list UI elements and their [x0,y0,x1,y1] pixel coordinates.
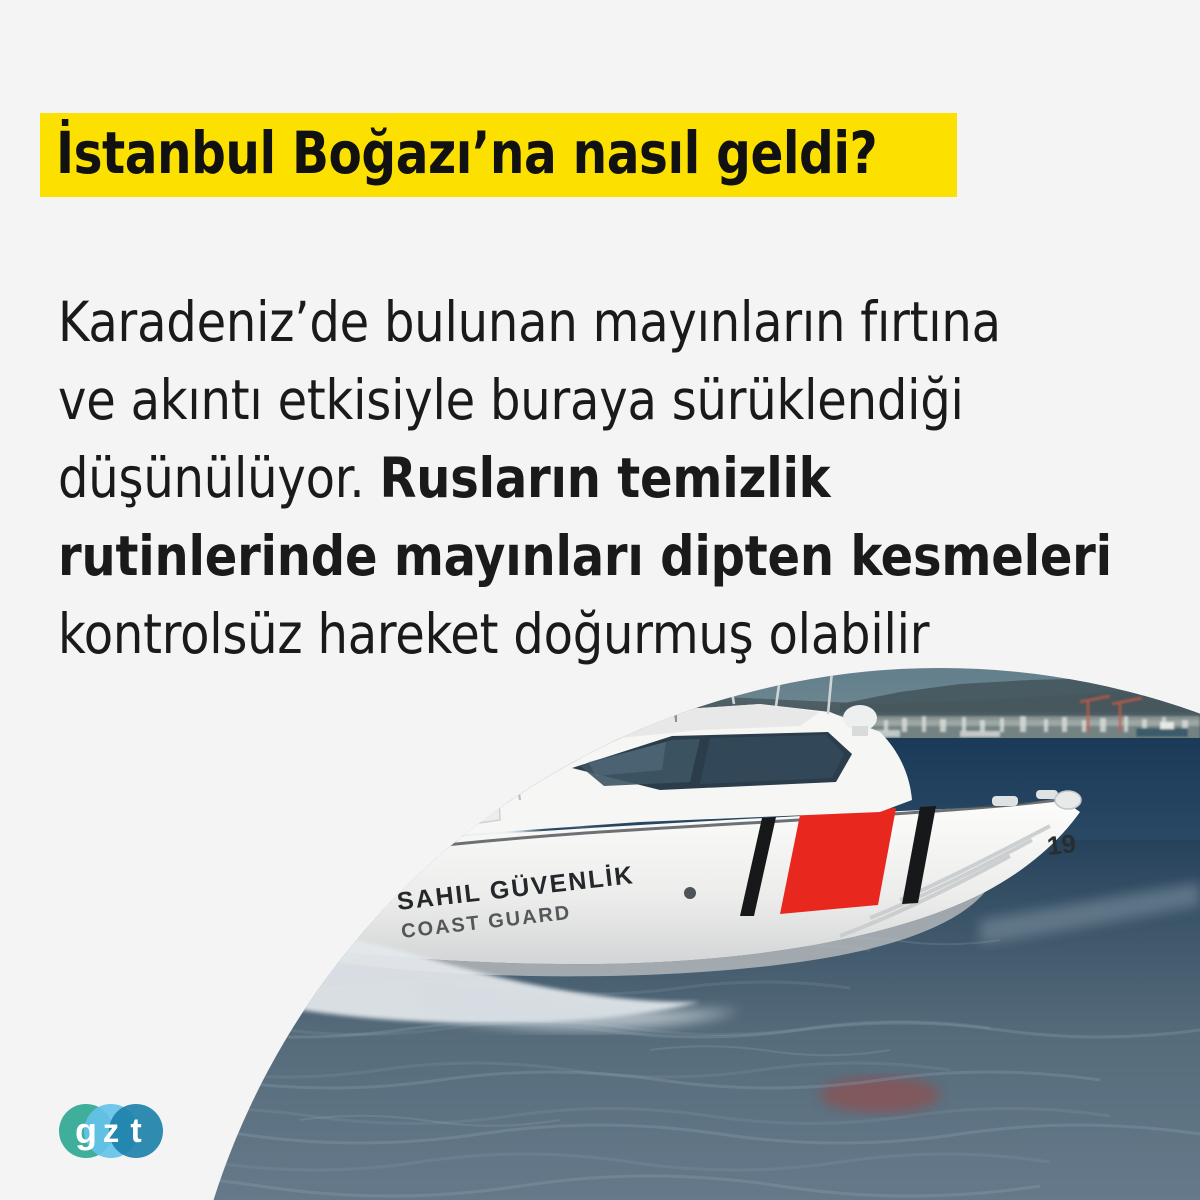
bow-spray [90,788,560,972]
body-line: ve akıntı etkisiyle buraya sürüklendiği [58,361,1135,439]
body-text-regular: Karadeniz’de bulunan mayınların fırtına [58,290,1001,354]
railing [190,824,336,872]
body-line: düşünülüyor. Rusların temizlik [58,439,1135,517]
radar-dome [843,705,877,731]
hull-lettering: SAHIL GÜVENLİK COAST GUARD [395,860,635,943]
hull-number: 19 [1045,828,1077,861]
hull-strakes [840,826,1050,936]
logo-letter-g: g [75,1110,97,1151]
hull [120,798,1080,964]
sea-far [0,738,1200,848]
body-text-regular: ve akıntı etkisiyle buraya sürüklendiği [58,368,964,432]
body-text-regular: kontrolsüz hareket doğurmuş olabilir [58,602,929,666]
body-line: kontrolsüz hareket doğurmuş olabilir [58,595,1135,673]
hull-shadow [168,892,985,976]
coastline-hills [0,674,1200,742]
superstructure [430,704,912,840]
photo-block: SAHIL GÜVENLİK COAST GUARD 19 [0,600,1200,1200]
body-line: rutinlerinde mayınları dipten kesmeleri [58,517,1135,595]
hull-reflection [820,1077,940,1113]
body-line: Karadeniz’de bulunan mayınların fırtına [58,283,1135,361]
body-text-bold: rutinlerinde mayınları dipten kesmeleri [58,524,1112,588]
svg-text:SAHIL GÜVENLİK: SAHIL GÜVENLİK [395,860,635,916]
sea-near [0,840,1200,1200]
distant-city [220,696,1200,740]
gzt-logo[interactable]: g z t [55,1100,167,1162]
hull-stripe-insignia [740,806,936,916]
body-text-bold: Rusların temizlik [379,446,830,510]
svg-text:COAST GUARD: COAST GUARD [400,902,572,943]
hull-spray [150,929,700,1023]
wake [980,882,1200,944]
headline-highlight: İstanbul Boğazı’na nasıl geldi? [40,113,957,197]
body-paragraph: Karadeniz’de bulunan mayınların fırtınav… [58,283,1168,673]
deck-fittings [241,790,1081,899]
logo-letter-t: t [130,1112,141,1150]
wheelhouse-windows [572,732,852,790]
logo-letter-z: z [103,1112,120,1149]
coast-guard-photo: SAHIL GÜVENLİK COAST GUARD 19 [0,600,1200,1200]
foreground-waves [0,1023,1200,1196]
page-title: İstanbul Boğazı’na nasıl geldi? [56,119,877,187]
body-text-regular: düşünülüyor. [58,446,379,510]
